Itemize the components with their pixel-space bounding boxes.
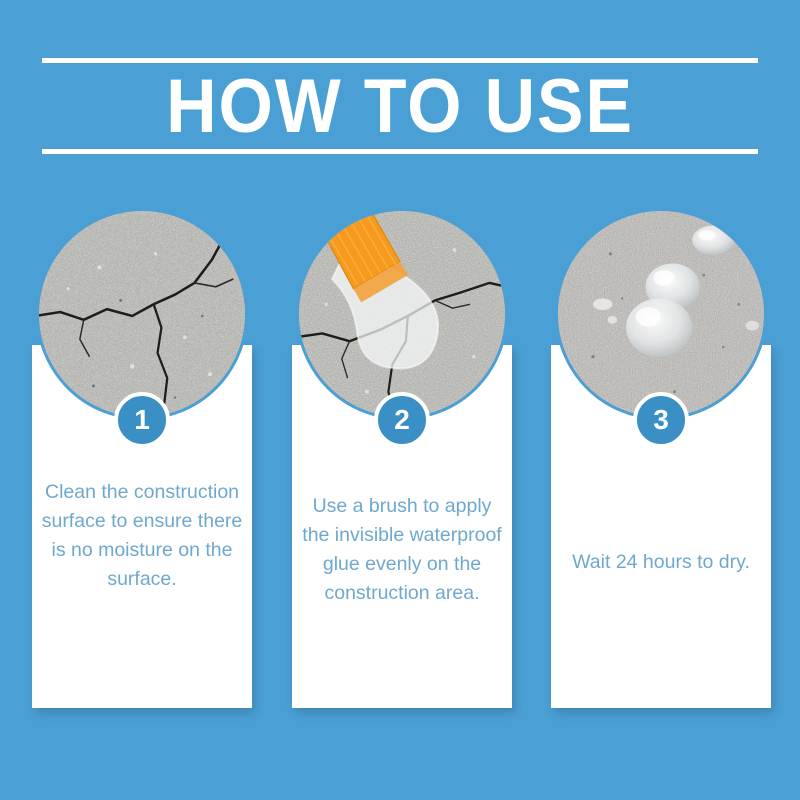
step-card-3: 3 Wait 24 hours to dry.	[551, 190, 771, 720]
step-number-badge-1: 1	[114, 392, 170, 448]
header: HOW TO USE	[42, 58, 758, 154]
steps-row: 1 Clean the construction surface to ensu…	[0, 190, 800, 730]
step-caption-2: Use a brush to apply the invisible water…	[300, 492, 504, 608]
step-number-badge-3: 3	[633, 392, 689, 448]
title-rule-top	[42, 58, 758, 63]
step-caption-1: Clean the construction surface to ensure…	[40, 478, 244, 594]
page-title: HOW TO USE	[71, 64, 730, 149]
step-card-2: 2 Use a brush to apply the invisible wat…	[292, 190, 512, 720]
step-caption-3: Wait 24 hours to dry.	[559, 548, 763, 577]
water-beading-droplets-photo	[555, 208, 767, 420]
brush-applying-glue-photo	[296, 208, 508, 420]
cracked-concrete-surface-photo	[36, 208, 248, 420]
step-number-badge-2: 2	[374, 392, 430, 448]
title-rule-bottom	[42, 149, 758, 154]
step-card-1: 1 Clean the construction surface to ensu…	[32, 190, 252, 720]
infographic-page: HOW TO USE	[0, 0, 800, 800]
